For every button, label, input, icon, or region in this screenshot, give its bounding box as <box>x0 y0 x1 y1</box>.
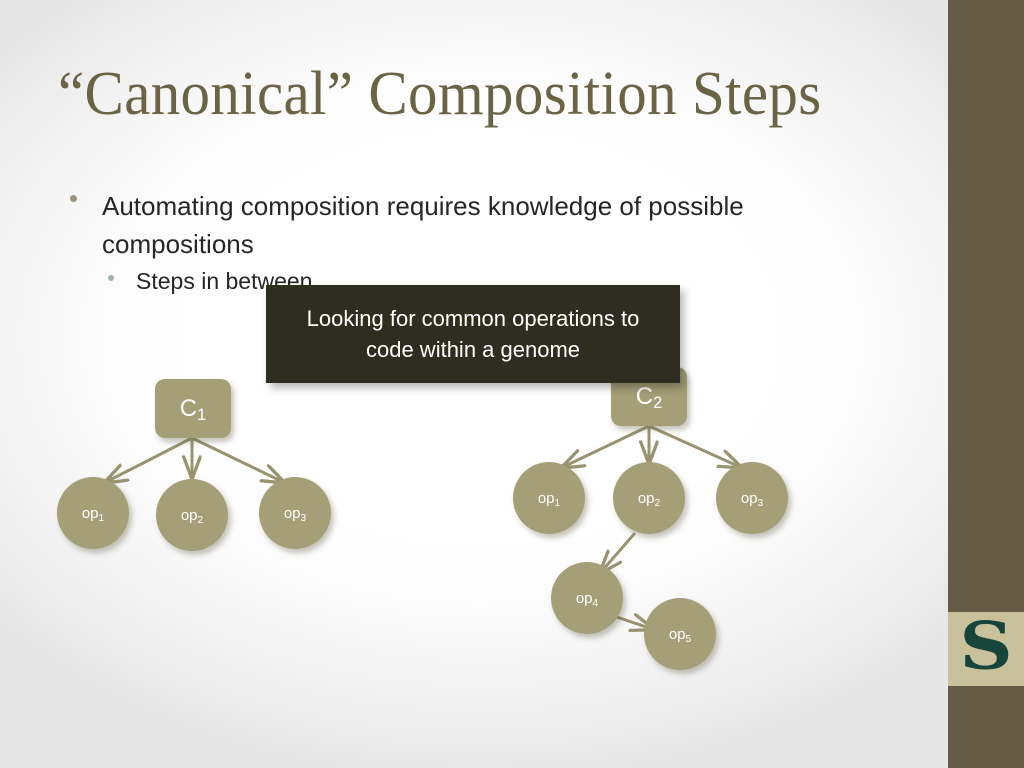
slide-canvas: “Canonical” Composition Steps Automating… <box>0 0 1024 768</box>
node-c1-label: C1 <box>180 395 206 423</box>
node-c1-op1[interactable]: op1 <box>57 477 129 549</box>
node-c2-op5[interactable]: op5 <box>644 598 716 670</box>
msu-s-logo-icon: S <box>959 614 1012 683</box>
node-c1-op1-label: op1 <box>82 505 104 522</box>
logo-plate: S <box>948 612 1024 686</box>
node-c2-op3-label: op3 <box>741 490 763 507</box>
node-c2-op1[interactable]: op1 <box>513 462 585 534</box>
node-c2-op4-label: op4 <box>576 590 598 607</box>
callout-box[interactable]: Looking for common operations to code wi… <box>266 285 680 383</box>
node-c2-op2[interactable]: op2 <box>613 462 685 534</box>
node-c1-op2-label: op2 <box>181 507 203 524</box>
node-c1-op3[interactable]: op3 <box>259 477 331 549</box>
node-c1-op2[interactable]: op2 <box>156 479 228 551</box>
node-c2-op2-label: op2 <box>638 490 660 507</box>
callout-text: Looking for common operations to code wi… <box>282 303 664 365</box>
node-c2-op4[interactable]: op4 <box>551 562 623 634</box>
node-c2-op1-label: op1 <box>538 490 560 507</box>
node-c2-label: C2 <box>636 383 662 411</box>
node-c1-op3-label: op3 <box>284 505 306 522</box>
node-c1[interactable]: C1 <box>155 379 231 438</box>
node-c2-op5-label: op5 <box>669 626 691 643</box>
diagram-arrows <box>0 0 1024 768</box>
node-c2-op3[interactable]: op3 <box>716 462 788 534</box>
